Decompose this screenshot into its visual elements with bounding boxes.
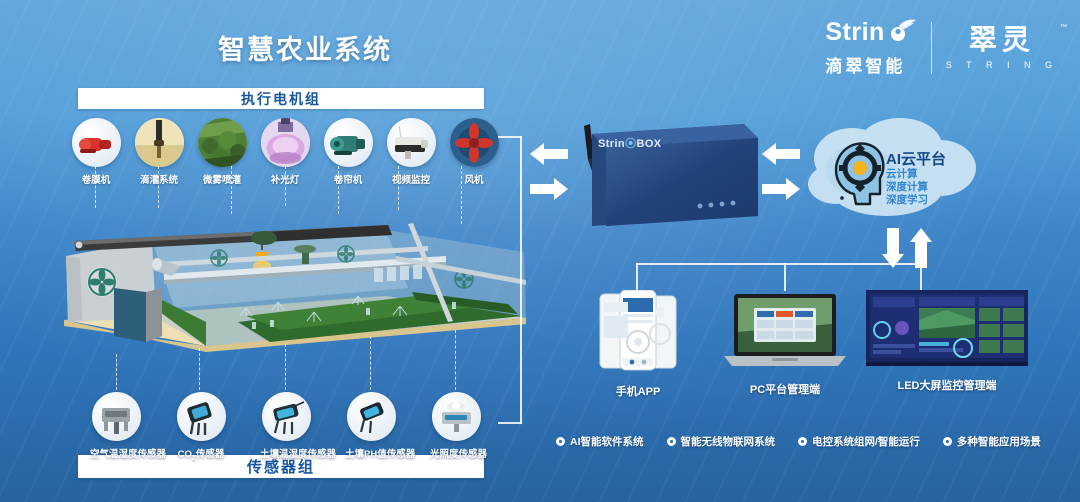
infographic-canvas: 智慧农业系统 Strin 滴翠智能 翠灵 S T R I N G ™ [0,0,1080,502]
sensor-label-2: 土壤温湿度传感器 [260,446,312,460]
logo-brand-en: Strin [825,20,884,45]
sensor-label-1: CO2传感器 [175,446,227,462]
logo-divider [931,22,932,74]
sensor-link-4 [455,330,456,390]
smartphone-icon [586,290,690,372]
sensor-link-3 [370,336,371,390]
arrow-left-to-gateway [762,143,800,170]
actuator-item-2[interactable]: 微雾喷灌 [196,118,248,186]
film-roller-motor-icon [72,118,121,167]
bullet-icon [667,437,676,446]
actuator-label-1: 滴灌系统 [133,172,185,186]
actuator-label-5: 视频监控 [385,172,437,186]
actuator-label-2: 微雾喷灌 [196,172,248,186]
video-camera-icon [387,118,436,167]
actuator-row: 卷膜机 滴灌系统 [70,118,490,193]
shade-roller-motor-icon [324,118,373,167]
sensor-link-1 [199,348,200,390]
sensor-link-2 [285,344,286,390]
device-label-0: 手机APP [586,383,690,399]
laptop-icon [724,292,846,370]
actuator-item-5[interactable]: 视频监控 [385,118,437,186]
logo-primary: Strin 滴翠智能 [825,18,916,77]
feature-item-1[interactable]: 智能无线物联网系统 [667,434,776,449]
logo-product-en: S T R I N G [946,60,1058,70]
led-wall-icon [866,290,1028,366]
page-title: 智慧农业系统 [218,28,392,67]
device-label-1: PC平台管理端 [724,381,846,397]
sensor-item-2[interactable]: 土壤温湿度传感器 [260,392,312,460]
mist-spray-icon [198,118,247,167]
actuator-label-0: 卷膜机 [70,172,122,186]
cloud-subtitle: 云计算 深度计算 深度学习 [886,168,928,207]
trademark-mark: ™ [1060,24,1067,31]
device-drop-1 [784,263,786,291]
arrow-left-to-greenhouse [530,143,568,170]
device-laptop[interactable]: PC平台管理端 [724,292,846,397]
feature-item-2[interactable]: 电控系统组网/智能运行 [798,434,920,449]
sensor-link-0 [116,354,117,390]
gateway-device[interactable]: Strin⦿BOX [572,118,762,230]
sensor-item-4[interactable]: 光照度传感器 [430,392,482,460]
feature-list: AI智能软件系统 智能无线物联网系统 电控系统组网/智能运行 多种智能应用场景 [556,434,1041,449]
gateway-bus-vertical [520,136,522,424]
actuator-item-0[interactable]: 卷膜机 [70,118,122,186]
device-led-wall[interactable]: LED大屏监控管理端 [866,290,1028,393]
gateway-label: Strin⦿BOX [598,135,662,151]
drip-irrigation-icon [135,118,184,167]
bullet-icon [556,437,565,446]
sensor-item-0[interactable]: 空气温湿度传感器 [90,392,142,460]
feature-label-0: AI智能软件系统 [570,434,644,449]
feature-item-0[interactable]: AI智能软件系统 [556,434,644,449]
sensor-label-0: 空气温湿度传感器 [90,446,142,460]
feature-label-2: 电控系统组网/智能运行 [812,434,920,449]
device-smartphone[interactable]: 手机APP [586,290,690,399]
actuator-item-4[interactable]: 卷帘机 [322,118,374,186]
device-bus-horizontal [636,263,921,265]
device-drop-0 [636,263,638,291]
actuator-label-6: 风机 [448,172,500,186]
logo-brand-cn: 滴翠智能 [825,52,916,77]
arrow-right-to-cloud [762,178,800,205]
logo-product: 翠灵 S T R I N G ™ [946,26,1058,70]
sensor-item-3[interactable]: 土壤PH值传感器 [345,392,397,460]
sensor-label-3: 土壤PH值传感器 [345,446,397,460]
feature-label-3: 多种智能应用场景 [957,434,1041,449]
device-drop-2 [920,263,922,291]
actuator-item-1[interactable]: 滴灌系统 [133,118,185,186]
gateway-bus-bottom-stub [498,422,522,424]
sensor-label-4: 光照度传感器 [430,446,482,460]
bullet-icon [943,437,952,446]
bullet-icon [798,437,807,446]
actuator-item-6[interactable]: 风机 [448,118,500,186]
ventilation-fan-icon [450,118,499,167]
co2-sensor-icon [177,392,226,441]
soil-ph-sensor-icon [347,392,396,441]
cloud-title: AI云平台 [886,148,946,169]
feature-label-1: 智能无线物联网系统 [681,434,776,449]
device-label-2: LED大屏监控管理端 [866,377,1028,393]
ai-cloud-platform[interactable]: AI云平台 云计算 深度计算 深度学习 [800,112,980,228]
arrow-right-to-gateway [530,178,568,205]
air-temp-humidity-sensor-icon [92,392,141,441]
actuator-label-4: 卷帘机 [322,172,374,186]
grow-light-icon [261,118,310,167]
bird-icon [887,18,917,47]
logo-wordmark: Strin [825,18,916,47]
soil-temp-humidity-sensor-icon [262,392,311,441]
logo-product-cn: 翠灵 [946,26,1058,54]
greenhouse-illustration [56,196,536,361]
sensor-row: 空气温湿度传感器 CO2传感器 [70,392,490,462]
sensor-item-1[interactable]: CO2传感器 [175,392,227,462]
brand-logo: Strin 滴翠智能 翠灵 S T R I N G ™ [825,18,1058,77]
light-intensity-sensor-icon [432,392,481,441]
gateway-bus-top-stub [498,136,522,138]
arrow-down-to-devices [882,228,904,273]
actuator-group-banner: 执行电机组 [78,88,484,109]
feature-item-3[interactable]: 多种智能应用场景 [943,434,1041,449]
